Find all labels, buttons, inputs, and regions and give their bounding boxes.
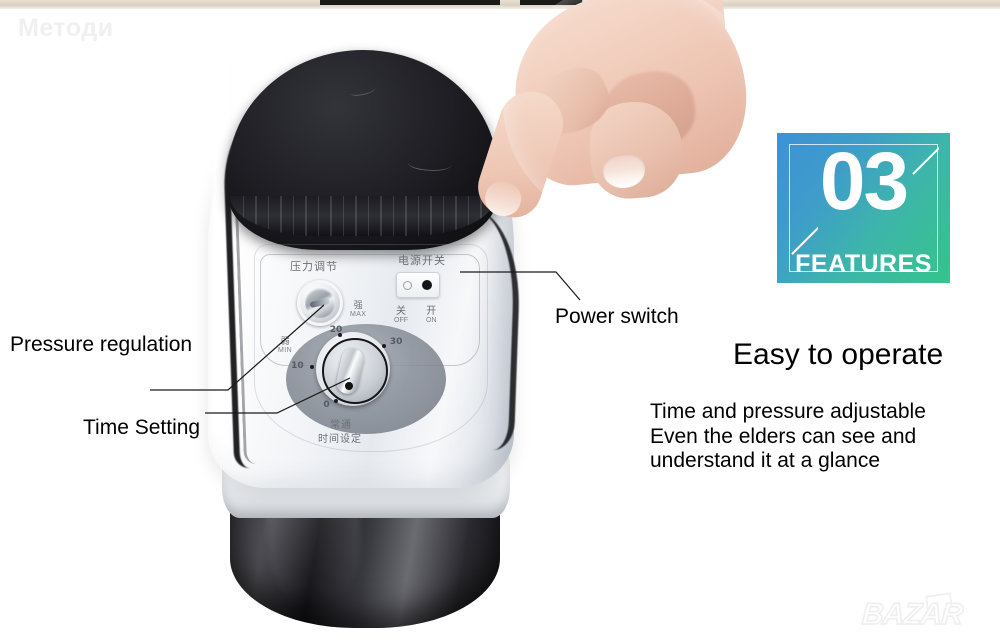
feature-number-badge: 03 FEATURES (777, 133, 950, 283)
body-description-line-3: understand it at a glance (650, 449, 926, 474)
power-switch-rocker[interactable] (396, 272, 440, 298)
infographic-canvas: Методи 压力调节 弱 MIN (0, 0, 1000, 643)
watermark-methodi: Методи (18, 14, 114, 43)
power-label-cn: 电源开关 (398, 252, 446, 268)
badge-word: FEATURES (777, 250, 950, 279)
timer-dial[interactable] (316, 332, 390, 406)
pressure-min-label-cn: 弱 (278, 334, 292, 347)
pressure-max-label-en: MAX (350, 311, 366, 318)
hand-pointing-illustration (455, 0, 785, 244)
power-on-label-cn: 开 (426, 302, 437, 317)
pressure-max-tick: 强 MAX (350, 298, 366, 318)
power-off-label-cn: 关 (394, 302, 408, 317)
timer-tick-10: 10 (291, 361, 304, 371)
power-off-indicator-icon (403, 281, 412, 290)
power-on-label-en: ON (426, 317, 437, 324)
badge-number: 03 (777, 141, 950, 223)
callout-label-pressure-regulation: Pressure regulation (10, 333, 192, 357)
timer-tick-30: 30 (390, 337, 403, 347)
pressure-knob-inner (305, 288, 335, 318)
hand-soft-shading (503, 0, 763, 224)
callout-label-time-setting: Time Setting (83, 416, 200, 440)
power-on-tick: 开 ON (426, 302, 437, 324)
pressure-knob-pointer (310, 298, 331, 308)
watermark-bazar: BAZAR (862, 598, 994, 638)
timer-tick-0: 0 (323, 400, 329, 410)
timer-dial-face (322, 338, 388, 404)
pressure-max-label-cn: 强 (350, 298, 366, 311)
body-description-line-2: Even the elders can see and (650, 425, 926, 450)
power-off-tick: 关 OFF (394, 302, 408, 324)
timer-label-cn-1: 常通 (330, 416, 352, 431)
callout-label-power-switch: Power switch (555, 305, 679, 329)
timer-dial-marker (345, 382, 353, 390)
body-description-line-1: Time and pressure adjustable (650, 400, 926, 425)
timer-tick-mark-0 (334, 399, 338, 403)
power-off-label-en: OFF (394, 317, 408, 324)
pressure-min-tick: 弱 MIN (278, 334, 292, 354)
control-panel: 压力调节 弱 MIN 强 MAX 电源开关 关 OFF (250, 250, 488, 450)
timer-label-cn-2: 时间设定 (318, 430, 362, 445)
headline-easy-to-operate: Easy to operate (733, 338, 943, 372)
body-description: Time and pressure adjustableEven the eld… (650, 400, 926, 474)
pressure-min-label-en: MIN (278, 347, 292, 354)
power-on-indicator-icon (422, 280, 432, 290)
pressure-label-cn: 压力调节 (290, 258, 338, 274)
pressure-knob[interactable] (297, 280, 343, 326)
